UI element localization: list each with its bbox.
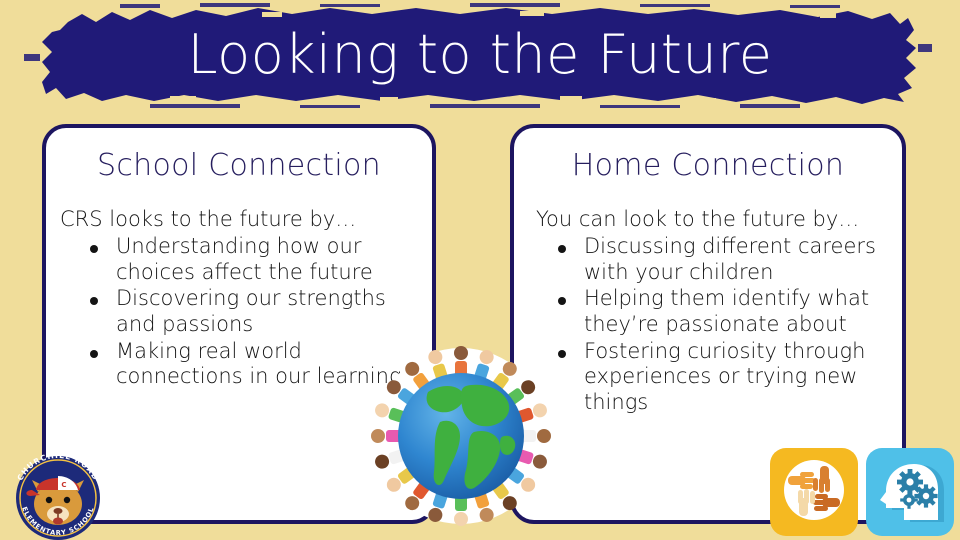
list-item: Understanding how our choices affect the… — [80, 234, 422, 285]
critical-thinking-head-gears-icon — [866, 448, 954, 536]
school-connection-lead: CRS looks to the future by… — [60, 207, 422, 232]
list-item: Fostering curiosity through experiences … — [548, 339, 892, 416]
slide-title: Looking to the Future — [0, 0, 960, 108]
home-connection-lead: You can look to the future by… — [528, 207, 892, 232]
list-item: Discovering our strengths and passions — [80, 286, 422, 337]
list-item: Helping them identify what they’re passi… — [548, 286, 892, 337]
globe-with-children-holding-hands-icon — [370, 340, 552, 530]
school-connection-heading: School Connection — [46, 148, 432, 183]
title-banner: Looking to the Future — [0, 0, 960, 112]
list-item: Discussing different careers with your c… — [548, 234, 892, 285]
cap-letter: C — [61, 481, 66, 489]
collaboration-hands-icon — [770, 448, 858, 536]
slide-canvas: Looking to the Future School Connection … — [0, 0, 960, 540]
churchill-road-elementary-school-logo: C CHURCHILL ROAD ELEMENTARY SCHOOL — [6, 446, 110, 540]
school-connection-bullet-list: Understanding how our choices affect the… — [60, 234, 422, 390]
home-connection-bullet-list: Discussing different careers with your c… — [528, 234, 892, 415]
corner-icon-group — [770, 448, 960, 540]
home-connection-body: You can look to the future by… Discussin… — [514, 207, 902, 415]
home-connection-heading: Home Connection — [514, 148, 902, 183]
